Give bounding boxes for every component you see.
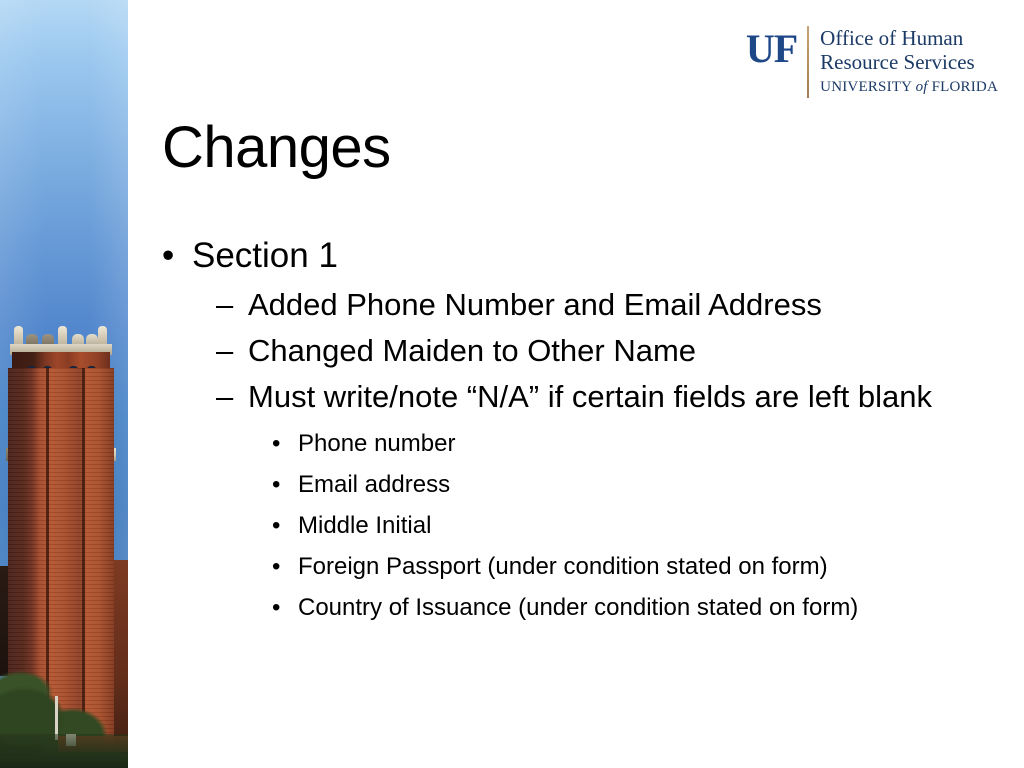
slide-title: Changes: [162, 112, 391, 184]
bullet-level3-label: Foreign Passport (under condition stated…: [298, 546, 962, 587]
dash-marker-icon: –: [216, 328, 248, 373]
bullet-marker-icon: •: [272, 546, 298, 587]
logo-line-office-of-human: Office of Human: [820, 26, 998, 50]
bullet-marker-icon: •: [162, 232, 192, 280]
bullet-marker-icon: •: [272, 464, 298, 505]
bullet-level3-item: • Phone number: [162, 423, 962, 464]
bullet-level3-label: Middle Initial: [298, 505, 962, 546]
uf-monogram: UF: [746, 26, 807, 98]
logo-divider: [807, 26, 809, 98]
bullet-level2-label: Must write/note “N/A” if certain fields …: [248, 374, 962, 419]
bullet-level2-item: – Added Phone Number and Email Address: [162, 282, 962, 327]
bullet-level3-item: • Country of Issuance (under condition s…: [162, 587, 962, 628]
bullet-level2-item: – Changed Maiden to Other Name: [162, 328, 962, 373]
bullet-level3-label: Email address: [298, 464, 962, 505]
slide-body: • Section 1 – Added Phone Number and Ema…: [162, 232, 962, 628]
bullet-marker-icon: •: [272, 505, 298, 546]
bullet-marker-icon: •: [272, 423, 298, 464]
uf-hr-logo: UF Office of Human Resource Services UNI…: [746, 26, 998, 98]
tower-pinnacle: [98, 326, 107, 346]
bullet-level2-item: – Must write/note “N/A” if certain field…: [162, 374, 962, 419]
bullet-marker-icon: •: [272, 587, 298, 628]
logo-university-word: UNIVERSITY: [820, 79, 911, 95]
bullet-level1-section-1: • Section 1: [162, 232, 962, 280]
logo-line-university-of-florida: UNIVERSITY of FLORIDA: [820, 77, 998, 98]
logo-florida-word: FLORIDA: [932, 79, 998, 95]
logo-of-word: of: [916, 79, 928, 95]
foreground-shrubs: [0, 734, 128, 768]
tower-pinnacle: [14, 326, 23, 346]
logo-text-block: Office of Human Resource Services UNIVER…: [820, 26, 998, 98]
bullet-level1-label: Section 1: [192, 232, 962, 280]
dash-marker-icon: –: [216, 282, 248, 327]
bullet-level3-item: • Middle Initial: [162, 505, 962, 546]
tower-pinnacle: [58, 326, 67, 346]
uf-century-tower-photo: [0, 0, 128, 768]
bullet-level3-item: • Foreign Passport (under condition stat…: [162, 546, 962, 587]
bullet-level3-item: • Email address: [162, 464, 962, 505]
bullet-level3-label: Phone number: [298, 423, 962, 464]
bullet-level3-label: Country of Issuance (under condition sta…: [298, 587, 962, 628]
bullet-level2-label: Added Phone Number and Email Address: [248, 282, 962, 327]
dash-marker-icon: –: [216, 374, 248, 419]
bullet-level3-group: • Phone number • Email address • Middle …: [162, 423, 962, 628]
logo-line-resource-services: Resource Services: [820, 50, 998, 74]
bullet-level2-label: Changed Maiden to Other Name: [248, 328, 962, 373]
